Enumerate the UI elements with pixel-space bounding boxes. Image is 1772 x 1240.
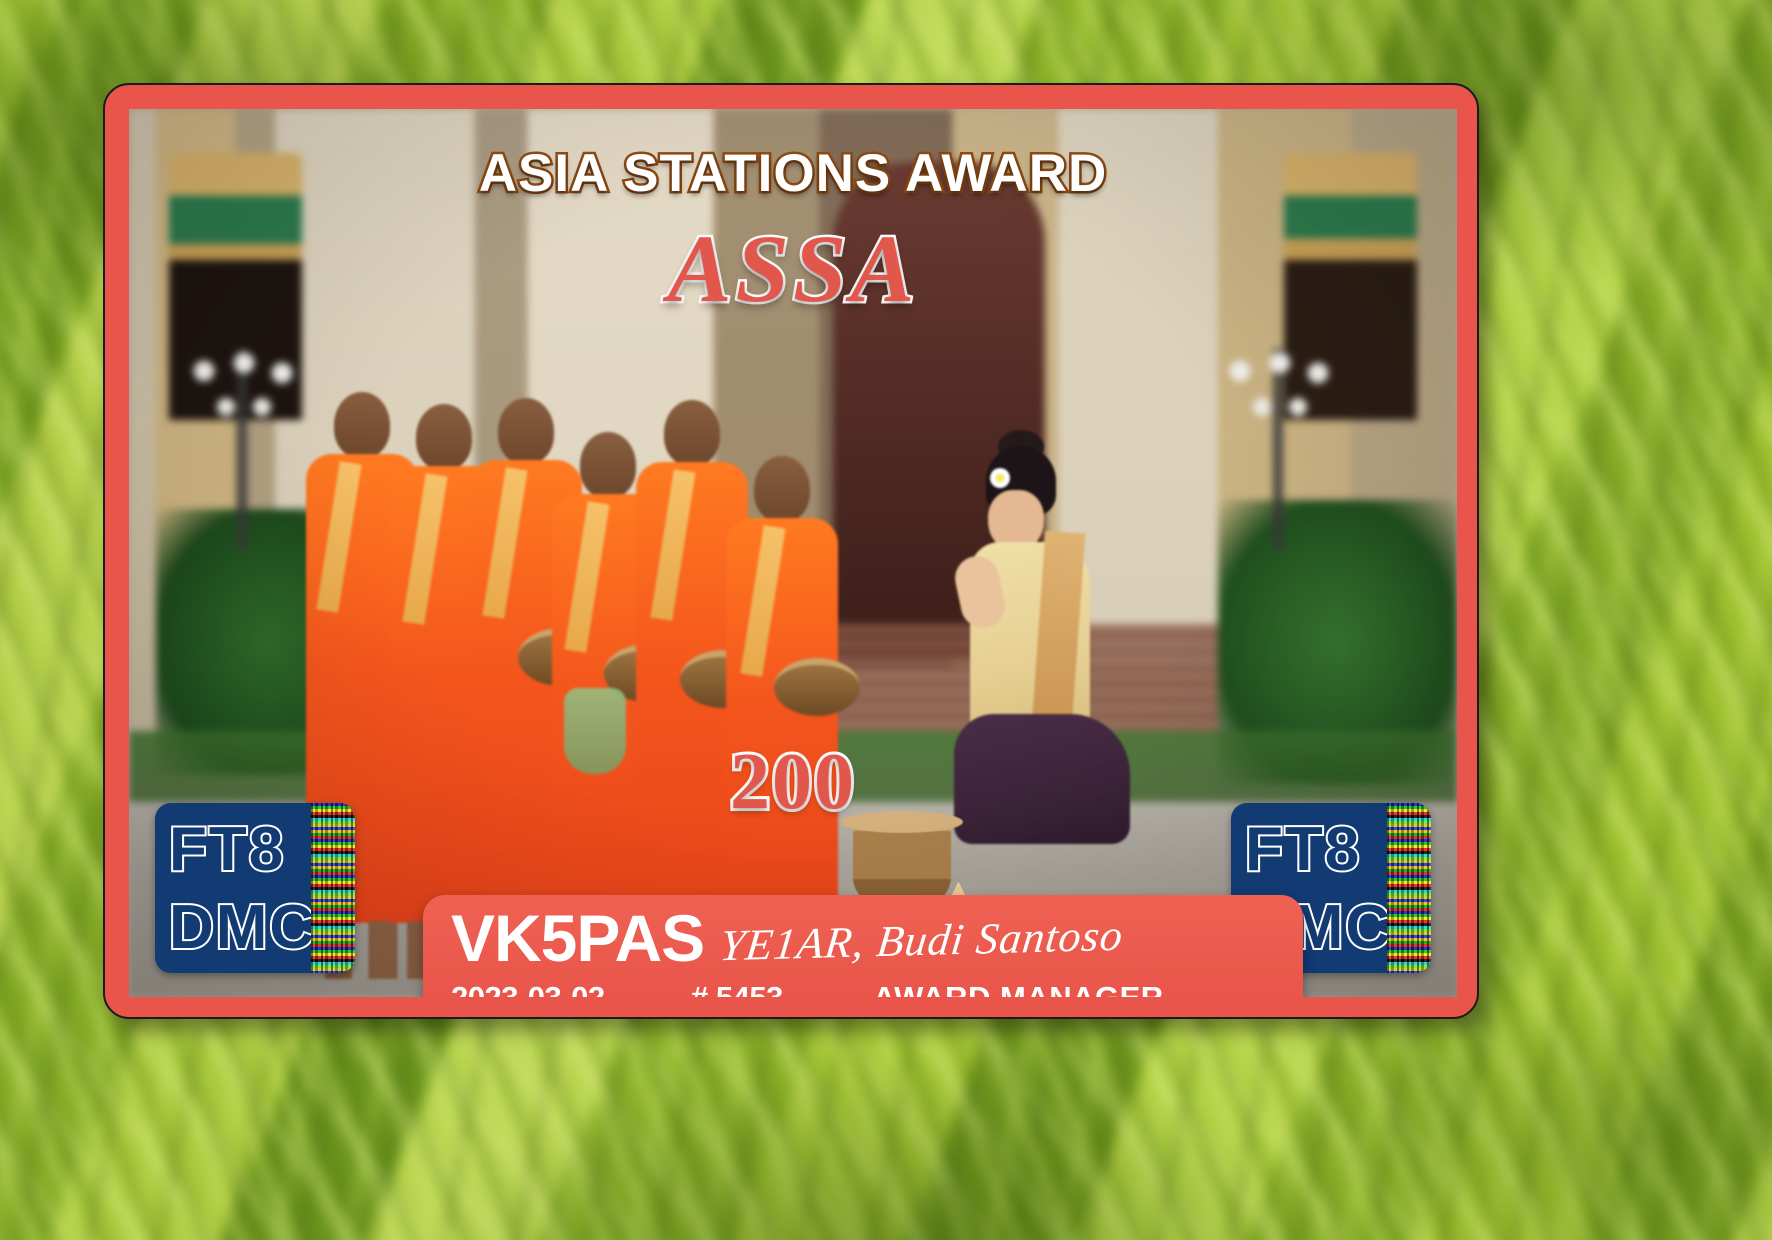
ft8dmc-logo-left: FT8 DMC xyxy=(155,803,355,973)
street-lamp-left xyxy=(182,349,302,549)
award-manager-signature: YE1AR, Budi Santoso xyxy=(717,904,1127,978)
banner-row-details: 2023-03-02 # 5453 AWARD MANAGER xyxy=(423,975,1303,997)
monk-figure xyxy=(722,358,842,980)
certificate-photo: ASIA STATIONS AWARD ASSA 200 FT8 DMC FT8… xyxy=(129,109,1457,997)
certificate-page: ASIA STATIONS AWARD ASSA 200 FT8 DMC FT8… xyxy=(0,0,1772,1240)
street-lamp-right xyxy=(1218,349,1338,549)
award-title: ASIA STATIONS AWARD xyxy=(129,143,1457,204)
ft8dmc-logo-text: FT8 DMC xyxy=(169,811,316,967)
banner-row-callsign: VK5PAS YE1AR, Budi Santoso xyxy=(423,901,1303,975)
ft8dmc-logo-line2: DMC xyxy=(169,889,316,967)
kneeling-woman-figure xyxy=(952,446,1152,943)
ft8dmc-logo-line1: FT8 xyxy=(1245,811,1392,889)
award-serial-number: # 5453 xyxy=(691,975,783,997)
waterfall-spectrum-icon xyxy=(1387,803,1431,973)
award-certificate-card: ASIA STATIONS AWARD ASSA 200 FT8 DMC FT8… xyxy=(103,83,1479,1019)
recipient-banner: VK5PAS YE1AR, Budi Santoso 2023-03-02 # … xyxy=(423,895,1303,997)
alms-pot xyxy=(853,819,951,905)
ft8dmc-logo-line1: FT8 xyxy=(169,811,316,889)
award-date: 2023-03-02 xyxy=(451,975,605,997)
award-manager-label: AWARD MANAGER xyxy=(873,975,1164,997)
waterfall-spectrum-icon xyxy=(311,803,355,973)
recipient-callsign: VK5PAS xyxy=(451,901,704,975)
award-abbreviation: ASSA xyxy=(129,213,1457,324)
